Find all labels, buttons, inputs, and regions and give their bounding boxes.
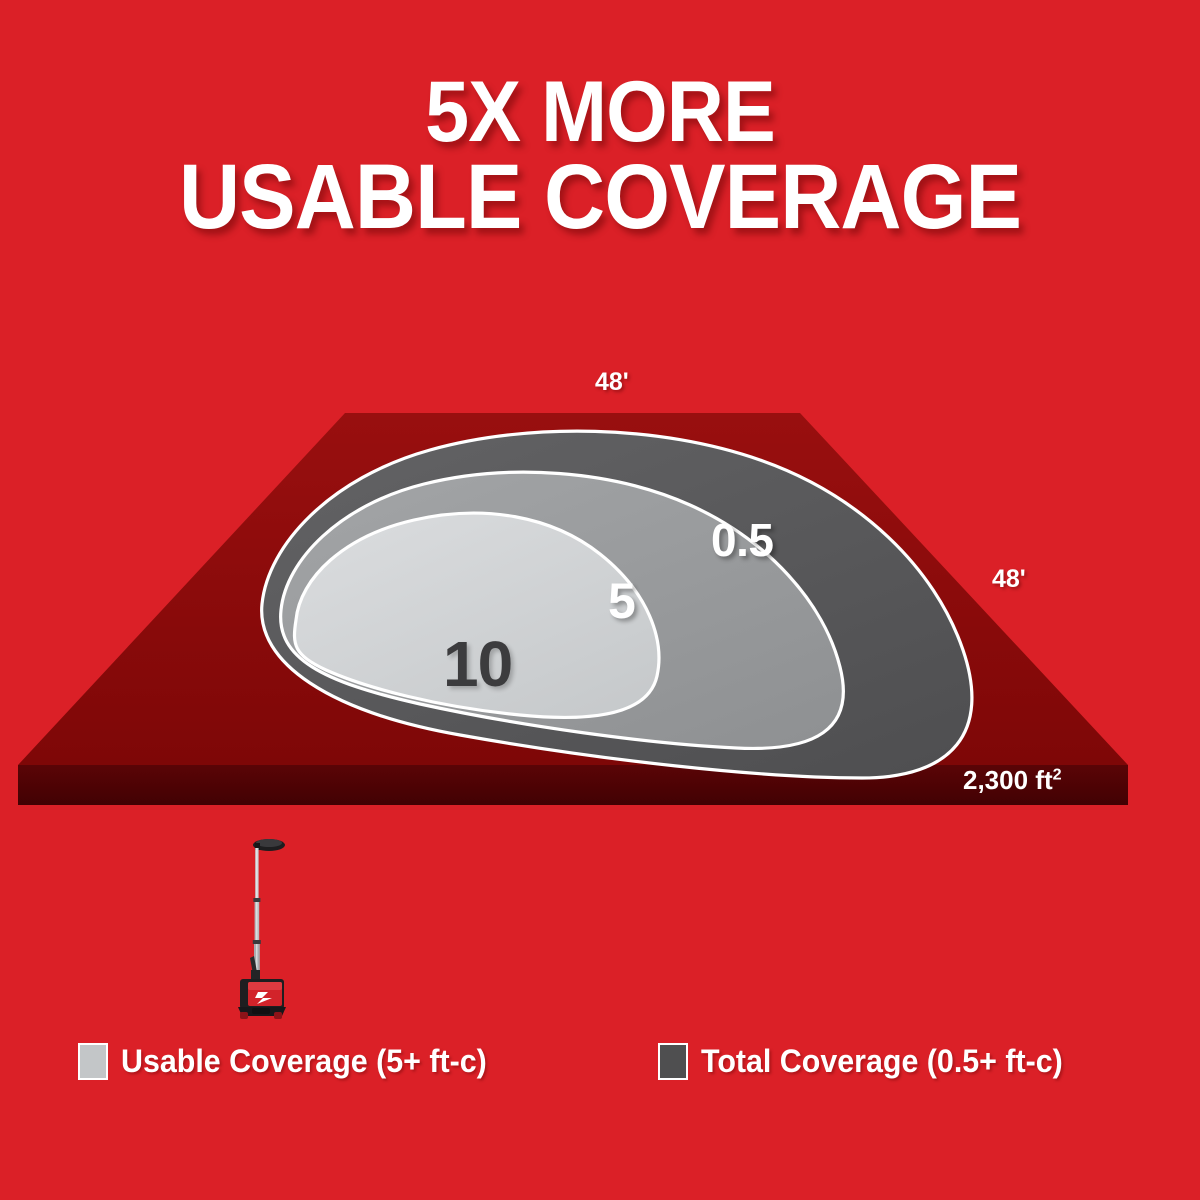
zone-label-inner: 10	[443, 627, 512, 701]
slab-front-face	[18, 765, 1128, 805]
legend-swatch-usable	[78, 1043, 108, 1080]
legend-label-usable: Usable Coverage (5+ ft-c)	[121, 1043, 487, 1080]
zone-label-outer: 0.5	[711, 513, 773, 567]
headline-line-1: 5X MORE	[48, 72, 1152, 154]
legend: Usable Coverage (5+ ft-c) Total Coverage…	[0, 1036, 1200, 1096]
legend-item-usable-coverage: Usable Coverage (5+ ft-c)	[78, 1038, 506, 1084]
legend-swatch-total	[658, 1043, 688, 1080]
milwaukee-tower-light-icon	[228, 832, 294, 1028]
page-title: 5X MORE USABLE COVERAGE	[48, 72, 1152, 241]
area-label: 2,300 ft2	[963, 765, 1062, 796]
dimension-label-right: 48'	[992, 565, 1026, 594]
area-exponent: 2	[1053, 765, 1062, 783]
coverage-diagram-svg	[0, 340, 1200, 880]
headline-line-2: USABLE COVERAGE	[48, 154, 1152, 241]
dimension-label-top: 48'	[595, 368, 629, 397]
legend-item-total-coverage: Total Coverage (0.5+ ft-c)	[658, 1038, 1082, 1084]
zone-label-middle: 5	[608, 572, 636, 630]
legend-label-total: Total Coverage (0.5+ ft-c)	[701, 1043, 1063, 1080]
area-value: 2,300 ft	[963, 765, 1053, 795]
coverage-diagram	[0, 340, 1200, 880]
